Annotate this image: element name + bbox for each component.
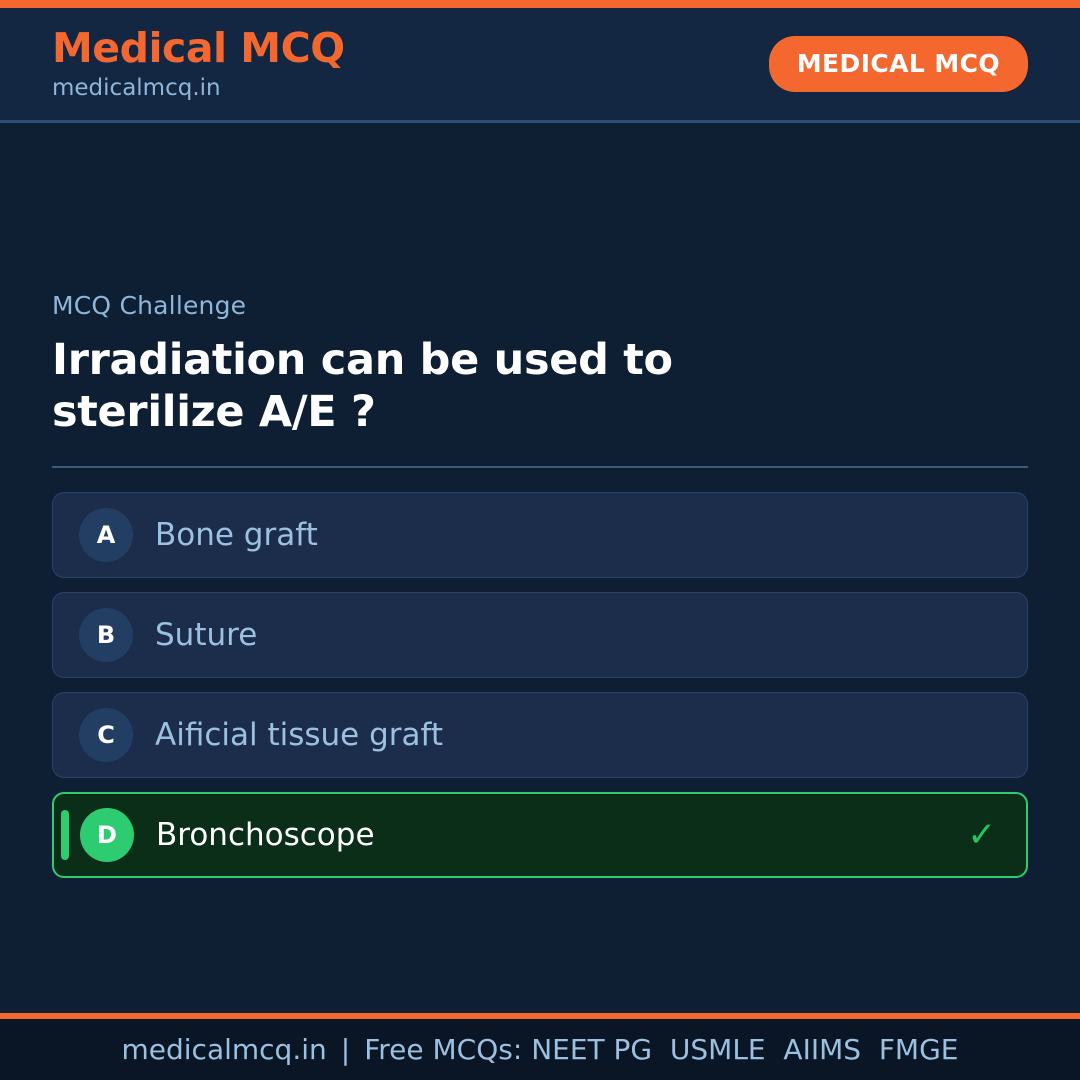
option-row-a[interactable]: A Bone graft ✓ <box>52 492 1028 578</box>
content-bottom-spacer <box>52 878 1028 1013</box>
option-row-b[interactable]: B Suture ✓ <box>52 592 1028 678</box>
footer-separator: | <box>327 1033 364 1066</box>
option-text-d: Bronchoscope <box>156 817 968 853</box>
brand-badge: MEDICAL MCQ <box>769 36 1028 92</box>
brand-subtitle: medicalmcq.in <box>52 77 345 100</box>
content-area: MCQ Challenge Irradiation can be used to… <box>0 123 1080 1013</box>
footer-tagline: Free MCQs: NEET PG USMLE AIIMS FMGE <box>364 1033 958 1066</box>
question-divider <box>52 466 1028 468</box>
header: Medical MCQ medicalmcq.in MEDICAL MCQ <box>0 8 1080 123</box>
option-text-a: Bone graft <box>155 517 1001 553</box>
option-text-b: Suture <box>155 617 1001 653</box>
correct-accent-bar <box>61 810 69 860</box>
option-letter-d: D <box>80 808 134 862</box>
brand-block: Medical MCQ medicalmcq.in <box>52 28 345 100</box>
option-letter-c: C <box>79 708 133 762</box>
footer-site[interactable]: medicalmcq.in <box>122 1033 327 1066</box>
mcq-card: Medical MCQ medicalmcq.in MEDICAL MCQ MC… <box>0 0 1080 1080</box>
top-accent-bar <box>0 0 1080 8</box>
option-letter-a: A <box>79 508 133 562</box>
question-text: Irradiation can be used to sterilize A/E… <box>52 334 842 438</box>
check-icon: ✓ <box>968 818 1001 852</box>
option-letter-b: B <box>79 608 133 662</box>
option-text-c: Aificial tissue graft <box>155 717 1001 753</box>
brand-title: Medical MCQ <box>52 28 345 69</box>
options-list: A Bone graft ✓ B Suture ✓ C Aificial tis… <box>52 492 1028 878</box>
footer: medicalmcq.in | Free MCQs: NEET PG USMLE… <box>0 1019 1080 1080</box>
option-row-d[interactable]: D Bronchoscope ✓ <box>52 792 1028 878</box>
option-row-c[interactable]: C Aificial tissue graft ✓ <box>52 692 1028 778</box>
content-top-spacer <box>52 123 1028 291</box>
section-kicker: MCQ Challenge <box>52 291 1028 320</box>
